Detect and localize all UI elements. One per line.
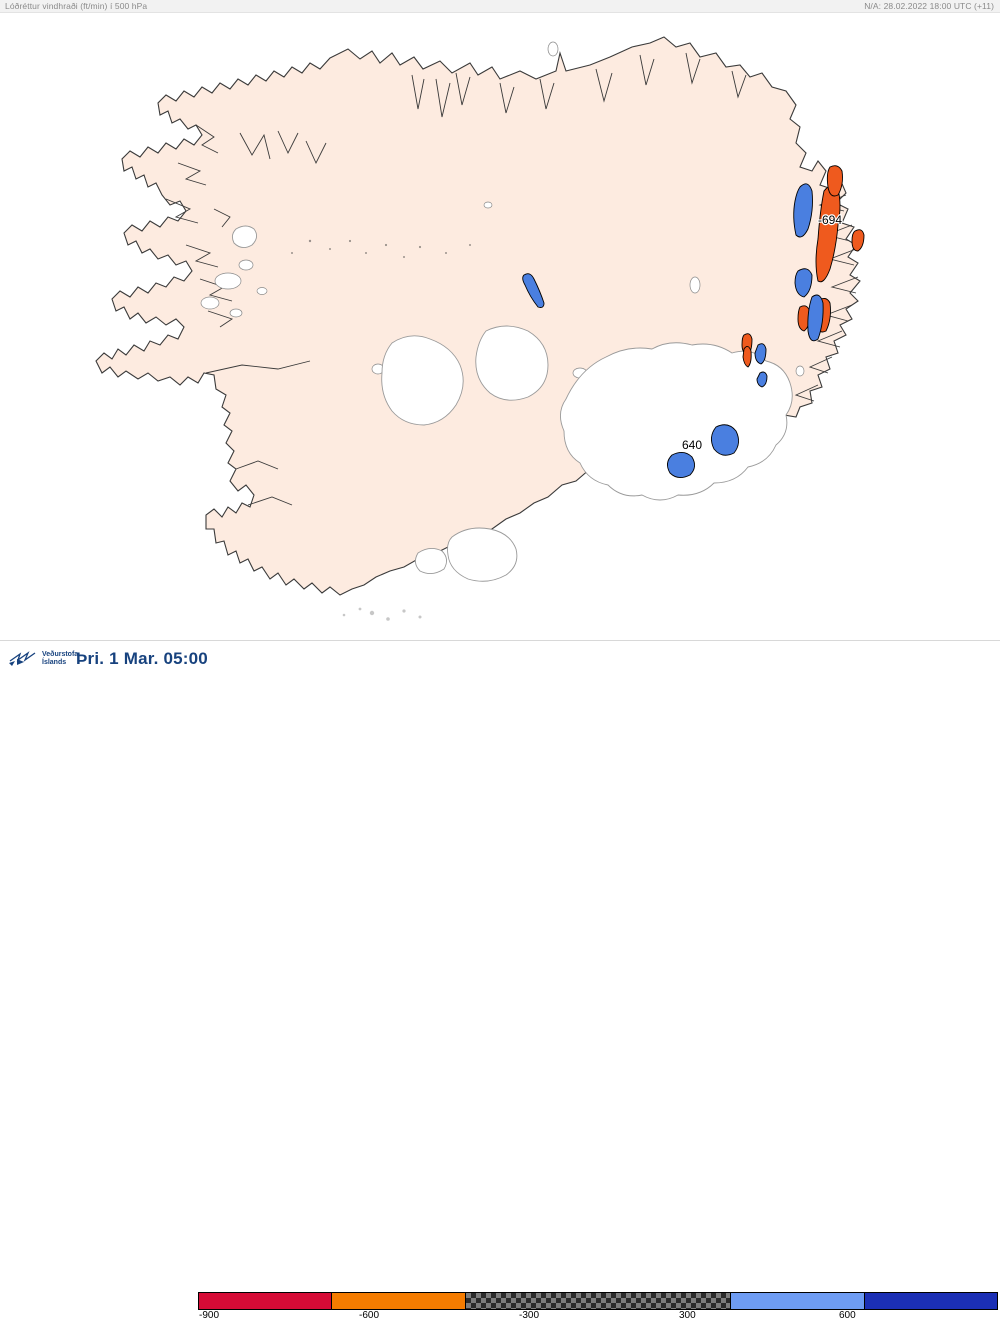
map-canvas[interactable]: -694 640 [0,13,1000,640]
colorbar-tick--600: -600 [359,1310,379,1321]
footer-bar: Veðurstofa Íslands Þri. 1 Mar. 05:00 -90… [0,640,1000,680]
wind-arrow-icon [8,650,38,668]
updraft-cell-vatna-west [667,452,694,477]
header-bar: Lóðréttur vindhraði (ft/min) í 500 hPa N… [0,0,1000,13]
iceland-map[interactable]: -694 640 [0,13,1000,640]
colorbar-segment-orange [331,1293,464,1309]
colorbar-segment-light-blue [730,1293,863,1309]
colorbar-ticks: -900-600-300300600 [198,1310,998,1321]
glacier-small-north [232,226,256,248]
colorbar-tick-300: 300 [679,1310,696,1321]
colorbar-segment-crimson [199,1293,331,1309]
downdraft-cell-ne-north [827,166,842,196]
glacier-myrdalsjokull [448,528,517,581]
updraft-cell-vatna-east [711,425,738,456]
colorbar-segment-dark-blue [864,1293,997,1309]
glacier-eyjafjallajokull [415,548,446,573]
colorbar-tick--900: -900 [199,1310,219,1321]
colorbar-segment-transparent-checker [465,1293,731,1309]
vedurstofa-logo[interactable]: Veðurstofa Íslands [8,650,78,668]
page-title: Lóðréttur vindhraði (ft/min) í 500 hPa [5,1,147,11]
colorbar-tick-600: 600 [839,1310,856,1321]
colorbar-tick--300: -300 [519,1310,539,1321]
logo-line-1: Veðurstofa [42,651,78,659]
updraft-max-label: 640 [682,438,702,452]
model-run-info: N/A: 28.02.2022 18:00 UTC (+11) [864,1,994,11]
colorbar[interactable] [198,1292,998,1310]
downdraft-max-label: -694 [818,213,842,227]
valid-time-label: Þri. 1 Mar. 05:00 [76,649,208,669]
logo-line-2: Íslands [42,659,78,667]
